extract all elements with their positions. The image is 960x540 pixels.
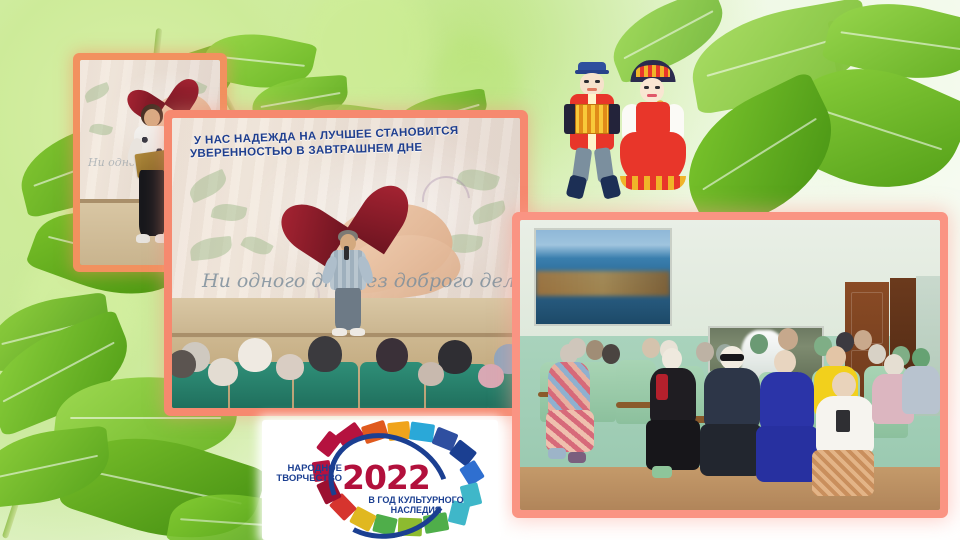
photo-right-card[interactable] bbox=[520, 220, 940, 510]
poster-canvas: Ни одного дня без доброго дела bbox=[0, 0, 960, 540]
logo-text-right-line2: НАСЛЕДИЯ bbox=[350, 506, 482, 516]
sunglasses-icon bbox=[720, 354, 744, 361]
wall-picture-autumn bbox=[534, 228, 672, 326]
photo-center-image: У НАС НАДЕЖДА НА ЛУЧШЕЕ СТАНОВИТСЯ УВЕРЕ… bbox=[172, 118, 520, 408]
photo-center-performer bbox=[318, 230, 378, 338]
logo-text-left: НАРОДНОЕ ТВОРЧЕСТВО bbox=[266, 464, 342, 484]
photo-center-card[interactable]: У НАС НАДЕЖДА НА ЛУЧШЕЕ СТАНОВИТСЯ УВЕРЕ… bbox=[172, 118, 520, 408]
accordion-icon bbox=[575, 104, 609, 134]
logo-year: 2022 bbox=[342, 458, 430, 497]
logo-card[interactable]: НАРОДНОЕ ТВОРЧЕСТВО 2022 В ГОД КУЛЬТУРНО… bbox=[262, 420, 498, 540]
photo-left-performer bbox=[126, 104, 178, 256]
folk-dancer bbox=[612, 60, 694, 200]
logo-text-left-line2: ТВОРЧЕСТВО bbox=[266, 474, 342, 484]
photo-right-image bbox=[520, 220, 940, 510]
microphone-icon bbox=[344, 246, 349, 260]
logo-text-right: В ГОД КУЛЬТУРНОГО НАСЛЕДИЯ bbox=[350, 496, 482, 515]
